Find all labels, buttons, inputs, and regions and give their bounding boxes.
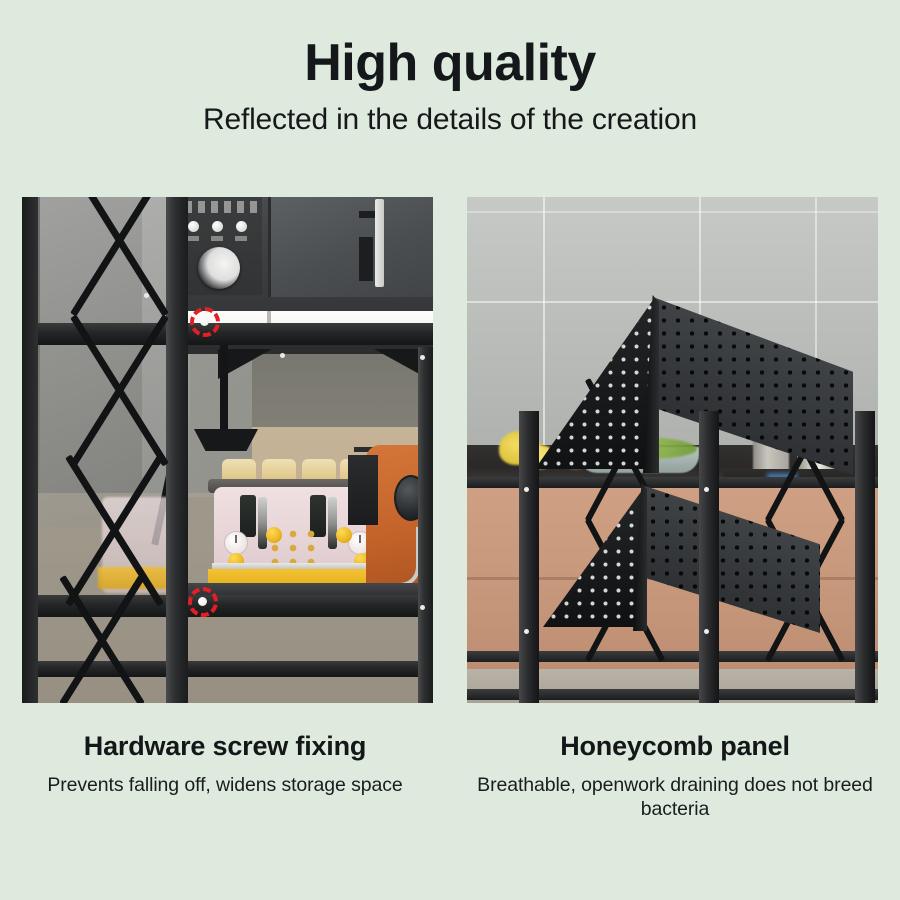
screw-head <box>704 629 709 634</box>
frame-post-right <box>418 347 433 703</box>
microwave-display-text <box>185 201 257 213</box>
screw-head <box>524 487 529 492</box>
screw-head <box>524 629 529 634</box>
frame-post-right <box>855 411 875 703</box>
feature-photo-row <box>22 197 878 703</box>
microwave-body <box>172 197 433 311</box>
frame-post-left <box>22 197 38 703</box>
caption-title: Hardware screw fixing <box>14 732 436 762</box>
screw-head <box>144 293 149 298</box>
toaster-dial-pointer <box>235 535 237 543</box>
toaster-slot <box>240 495 256 537</box>
microwave-button-2 <box>212 221 223 232</box>
toaster-knob <box>266 527 282 543</box>
page-title: High quality <box>0 36 900 90</box>
frame-post-center <box>699 411 719 703</box>
microwave-handle-bar <box>375 199 384 287</box>
microwave-button-label-3 <box>235 236 247 241</box>
screw-head <box>420 605 425 610</box>
coffee-machine-group-head <box>348 455 378 525</box>
toaster-knob <box>336 527 352 543</box>
microwave-button-label-2 <box>211 236 223 241</box>
caption-honeycomb-panel: Honeycomb panel Breathable, openwork dra… <box>450 732 900 821</box>
header: High quality Reflected in the details of… <box>0 0 900 136</box>
microwave-button-1 <box>188 221 199 232</box>
frame-post-left <box>519 411 539 703</box>
toaster-dial-pointer <box>359 535 361 543</box>
screw-head <box>280 353 285 358</box>
feature-photo-hardware-screw-fixing <box>22 197 433 703</box>
caption-title: Honeycomb panel <box>464 732 886 762</box>
page-subtitle: Reflected in the details of the creation <box>0 104 900 136</box>
caption-hardware-screw-fixing: Hardware screw fixing Prevents falling o… <box>0 732 450 821</box>
toaster-lever <box>258 497 267 549</box>
screw-head <box>420 355 425 360</box>
screw-head <box>704 487 709 492</box>
feature-photo-honeycomb-panel <box>467 197 878 703</box>
screw-head-highlighted-upper <box>200 317 209 326</box>
toaster-lever <box>328 497 337 549</box>
microwave-handle-body <box>359 237 373 281</box>
caption-description: Prevents falling off, widens storage spa… <box>14 773 436 797</box>
screw-head-highlighted-lower <box>198 597 207 606</box>
microwave-control-panel <box>178 197 262 295</box>
shelf-support-rod <box>220 345 228 437</box>
caption-description: Breathable, openwork draining does not b… <box>464 773 886 821</box>
microwave-door <box>268 197 433 297</box>
caption-row: Hardware screw fixing Prevents falling o… <box>0 732 900 821</box>
toaster-dial-left <box>224 531 248 555</box>
frame-post-center <box>166 197 188 703</box>
coffee-machine-steam-wand <box>374 527 420 587</box>
microwave-knob <box>198 247 240 289</box>
microwave-button-label-1 <box>187 236 199 241</box>
microwave-button-3 <box>236 221 247 232</box>
